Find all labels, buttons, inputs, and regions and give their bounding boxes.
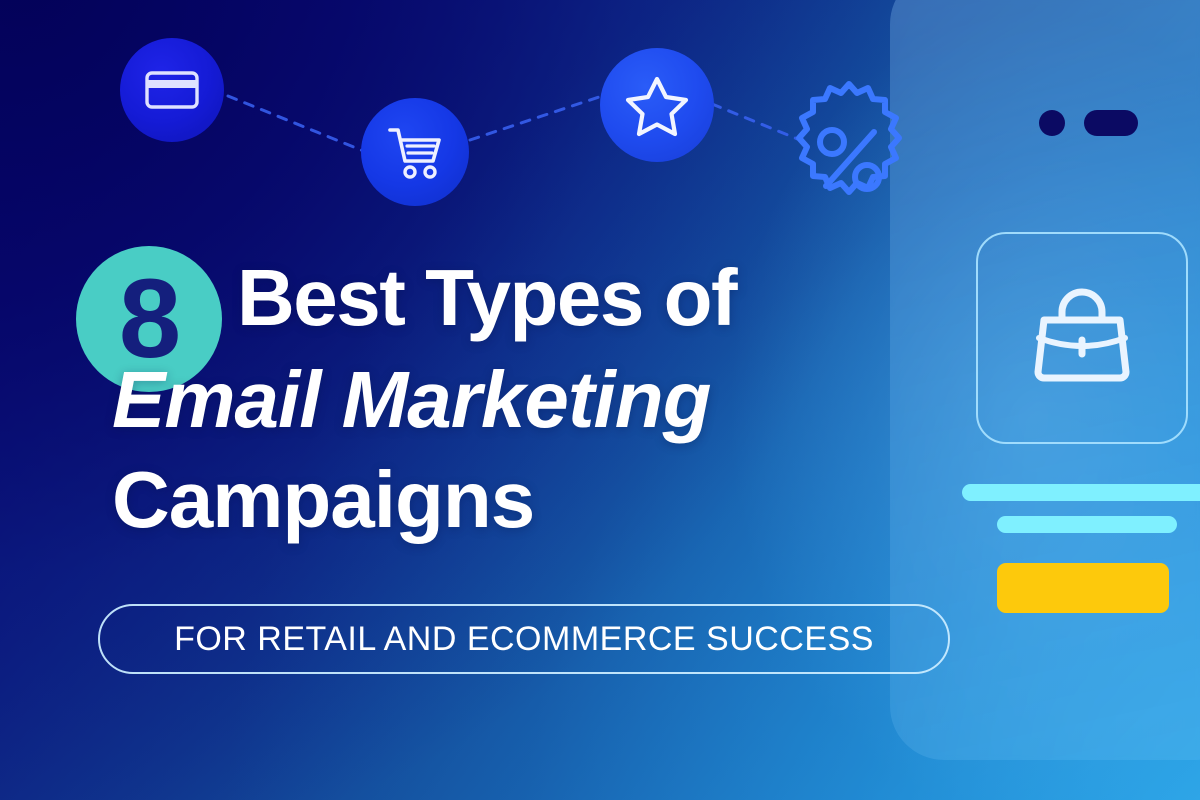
marketing-banner: 8 Best Types of Email Marketing Campaign… <box>0 0 1200 800</box>
shopping-cart-icon <box>383 120 447 184</box>
handbag-icon <box>1022 272 1142 392</box>
skeleton-line-primary <box>962 484 1200 501</box>
skeleton-line-secondary <box>997 516 1177 533</box>
credit-card-icon-circle <box>120 38 224 142</box>
subtitle-text: FOR RETAIL AND ECOMMERCE SUCCESS <box>174 620 874 659</box>
camera-dot-icon <box>1039 110 1065 136</box>
headline-block: Best Types of Email Marketing Campaigns <box>112 258 902 540</box>
subtitle-pill: FOR RETAIL AND ECOMMERCE SUCCESS <box>98 604 950 674</box>
cta-button[interactable] <box>997 563 1169 613</box>
headline-line-2: Email Marketing <box>112 360 902 440</box>
headline-line-1: Best Types of <box>112 258 902 338</box>
credit-card-icon <box>141 59 203 121</box>
star-icon-circle <box>600 48 714 162</box>
percent-badge-icon <box>766 74 932 240</box>
star-icon <box>624 72 690 138</box>
shopping-cart-icon-circle <box>361 98 469 206</box>
headline-line-3: Campaigns <box>112 460 902 540</box>
speaker-pill-icon <box>1084 110 1138 136</box>
